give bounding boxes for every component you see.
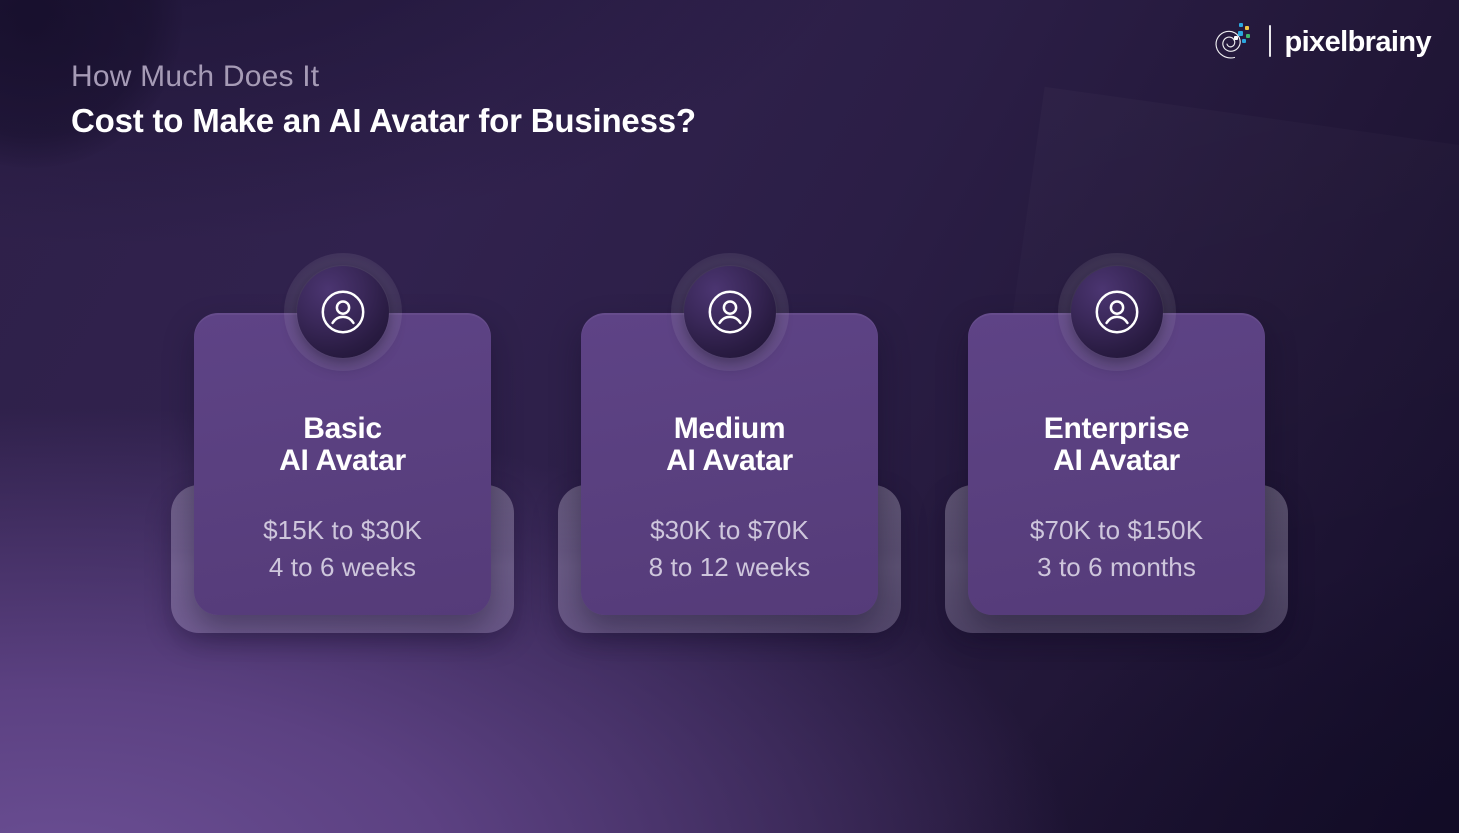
pricing-card[interactable]: Medium AI Avatar $30K to $70K 8 to 12 we… [581, 253, 878, 643]
logo-dot-2 [1245, 26, 1249, 30]
card-badge [671, 253, 789, 371]
brand-name: pixelbrainy [1284, 28, 1431, 57]
badge-disc [684, 266, 776, 358]
pricing-card[interactable]: Basic AI Avatar $15K to $30K 4 to 6 week… [194, 253, 491, 643]
logo-divider [1269, 25, 1271, 57]
card-meta: $70K to $150K 3 to 6 months [1030, 512, 1203, 586]
pricing-card[interactable]: Enterprise AI Avatar $70K to $150K 3 to … [968, 253, 1265, 643]
card-title: Enterprise AI Avatar [1044, 413, 1189, 478]
brain-spiral-icon [1214, 20, 1256, 62]
card-title: Basic AI Avatar [279, 413, 406, 478]
logo-dot-4 [1246, 34, 1250, 38]
brand-logo[interactable]: pixelbrainy [1214, 19, 1431, 63]
logo-dot-6 [1242, 39, 1246, 43]
user-avatar-icon [1094, 289, 1140, 335]
card-title: Medium AI Avatar [666, 413, 793, 478]
card-meta: $15K to $30K 4 to 6 weeks [263, 512, 422, 586]
logo-dot-1 [1239, 23, 1243, 27]
logo-dot-3 [1238, 31, 1243, 36]
infographic-canvas: How Much Does It Cost to Make an AI Avat… [0, 0, 1459, 833]
pricing-card-row: Basic AI Avatar $15K to $30K 4 to 6 week… [0, 253, 1459, 643]
user-avatar-icon [320, 289, 366, 335]
header-block: How Much Does It Cost to Make an AI Avat… [71, 60, 696, 140]
badge-disc [1071, 266, 1163, 358]
header-eyebrow: How Much Does It [71, 60, 696, 94]
card-badge [1058, 253, 1176, 371]
card-meta: $30K to $70K 8 to 12 weeks [649, 512, 811, 586]
badge-disc [297, 266, 389, 358]
card-badge [284, 253, 402, 371]
user-avatar-icon [707, 289, 753, 335]
page-title: Cost to Make an AI Avatar for Business? [71, 102, 696, 140]
logo-dot-5 [1234, 36, 1238, 40]
